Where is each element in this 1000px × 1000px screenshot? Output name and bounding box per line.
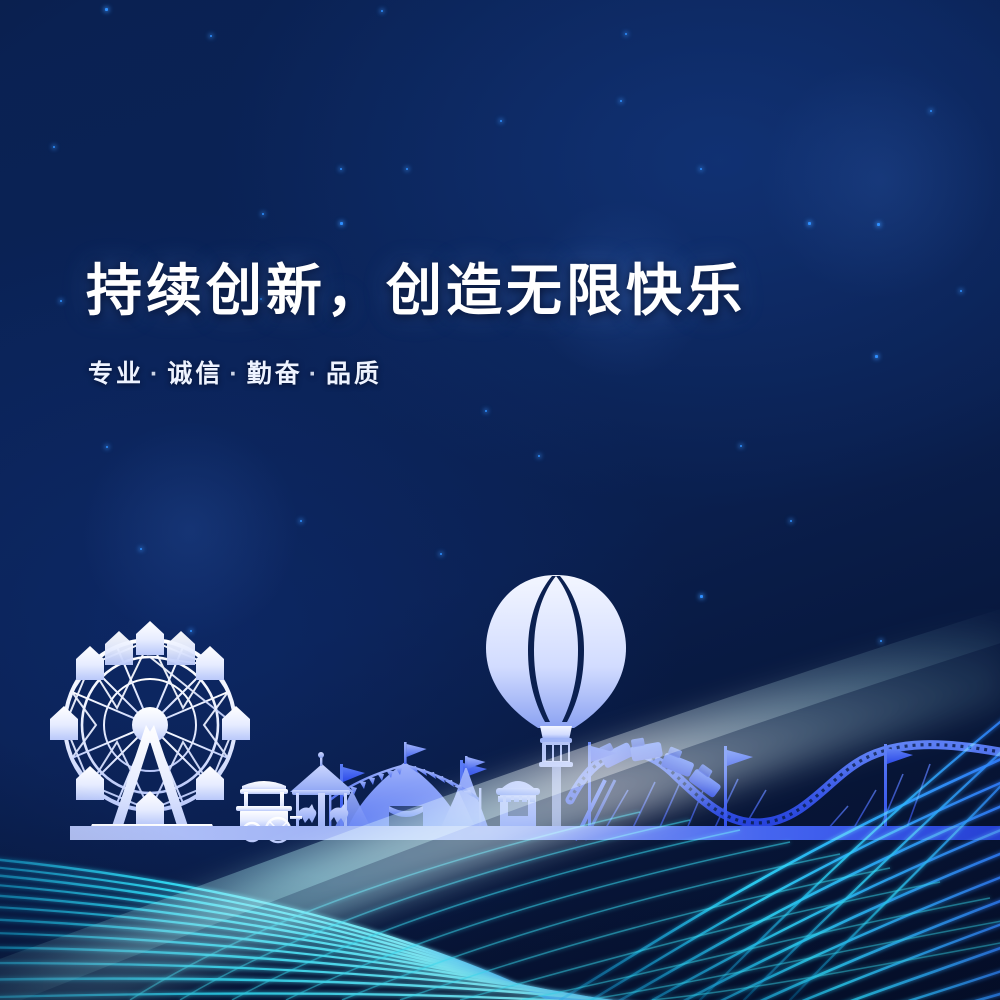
poster-canvas: 持续创新，创造无限快乐 专业·诚信·勤奋·品质	[0, 0, 1000, 1000]
glowing-mesh-wave	[0, 0, 1000, 1000]
